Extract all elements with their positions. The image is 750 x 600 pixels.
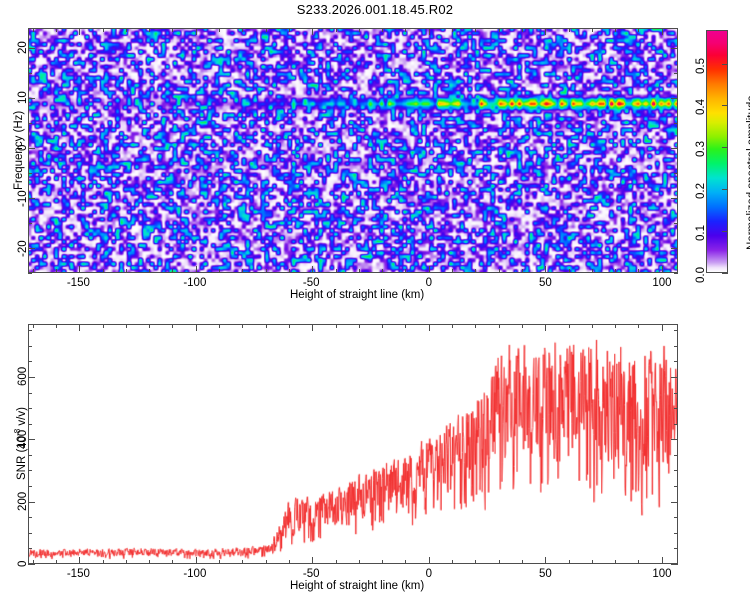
axis-tick: [219, 560, 220, 564]
axis-tick: [289, 28, 290, 32]
axis-tick: [126, 28, 127, 32]
axis-tick-label: -10: [17, 191, 29, 208]
colorbar-tick-label: 0.1: [695, 225, 707, 241]
axis-tick: [522, 324, 523, 328]
axis-tick: [499, 560, 500, 564]
axis-tick: [615, 28, 616, 32]
axis-tick: [452, 324, 453, 328]
axis-tick: [475, 269, 476, 273]
axis-tick: [405, 560, 406, 564]
axis-tick: [28, 223, 32, 224]
axis-tick: [662, 28, 663, 35]
axis-tick: [28, 248, 35, 249]
axis-tick-label: 200: [17, 492, 29, 511]
colorbar-tick-label: 0.3: [695, 141, 707, 157]
axis-tick-label: 100: [652, 568, 671, 580]
axis-tick: [242, 28, 243, 32]
axis-tick: [28, 73, 32, 74]
axis-tick: [242, 324, 243, 328]
axis-tick: [671, 148, 678, 149]
axis-tick: [452, 269, 453, 273]
axis-tick: [28, 148, 35, 149]
axis-tick: [674, 346, 678, 347]
axis-tick: [312, 557, 313, 564]
axis-tick: [28, 346, 32, 347]
axis-tick: [674, 330, 678, 331]
axis-tick: [382, 28, 383, 32]
snr-panel: [28, 324, 678, 564]
snr-y-axis-label: SNR (10-8 v/v): [13, 407, 28, 480]
axis-tick: [28, 455, 32, 456]
axis-tick: [569, 269, 570, 273]
axis-tick: [662, 266, 663, 273]
axis-tick: [638, 324, 639, 328]
axis-tick: [126, 560, 127, 564]
axis-tick: [674, 486, 678, 487]
axis-tick: [662, 557, 663, 564]
axis-tick: [671, 48, 678, 49]
axis-tick: [172, 560, 173, 564]
axis-tick-label: -20: [17, 241, 29, 258]
axis-tick: [28, 48, 35, 49]
axis-tick: [149, 28, 150, 32]
axis-tick: [674, 424, 678, 425]
axis-tick: [674, 517, 678, 518]
axis-tick: [545, 324, 546, 331]
colorbar-tick: [722, 147, 728, 148]
axis-tick: [33, 324, 34, 328]
colorbar-tick-label: 0.2: [695, 183, 707, 199]
colorbar-gradient: [707, 31, 727, 272]
axis-tick: [522, 560, 523, 564]
axis-tick: [545, 28, 546, 35]
axis-tick: [336, 269, 337, 273]
axis-tick: [522, 28, 523, 32]
axis-tick: [674, 408, 678, 409]
axis-tick: [452, 560, 453, 564]
axis-tick: [382, 560, 383, 564]
axis-tick: [475, 560, 476, 564]
axis-tick: [671, 564, 678, 565]
axis-tick: [103, 269, 104, 273]
axis-tick-label: -150: [67, 568, 90, 580]
axis-tick: [405, 324, 406, 328]
axis-tick: [592, 269, 593, 273]
axis-tick: [28, 408, 32, 409]
snr-trace: [29, 325, 677, 563]
axis-tick: [126, 269, 127, 273]
axis-tick-label: 10: [17, 91, 29, 104]
axis-tick: [28, 377, 35, 378]
axis-tick: [56, 269, 57, 273]
axis-tick: [475, 28, 476, 32]
axis-tick: [126, 324, 127, 328]
axis-tick: [28, 393, 32, 394]
axis-tick: [615, 324, 616, 328]
axis-tick: [219, 269, 220, 273]
axis-tick: [103, 28, 104, 32]
colorbar-tick: [722, 189, 728, 190]
axis-tick: [674, 73, 678, 74]
axis-tick: [674, 455, 678, 456]
axis-tick-label: -50: [303, 568, 320, 580]
axis-tick: [266, 324, 267, 328]
axis-tick: [149, 269, 150, 273]
axis-tick: [336, 560, 337, 564]
axis-tick: [219, 28, 220, 32]
axis-tick: [405, 269, 406, 273]
axis-tick: [452, 28, 453, 32]
colorbar-tick-label: 0.0: [695, 267, 707, 283]
axis-tick: [615, 560, 616, 564]
snr-y-axis-label-unit: v/v): [16, 407, 28, 429]
colorbar: [706, 30, 728, 273]
axis-tick: [674, 173, 678, 174]
axis-tick: [336, 28, 337, 32]
axis-tick: [266, 560, 267, 564]
axis-tick-label: 0: [17, 561, 29, 567]
axis-tick: [56, 324, 57, 328]
axis-tick: [289, 560, 290, 564]
spectrogram-y-axis-label: Frequency (Hz): [13, 111, 25, 190]
figure-root: S233.2026.001.18.45.R02 -150-100-5005010…: [0, 0, 750, 600]
axis-tick: [28, 98, 35, 99]
spectrogram-panel: [28, 28, 678, 273]
axis-tick: [28, 439, 35, 440]
axis-tick: [28, 173, 32, 174]
axis-tick-label: 20: [17, 41, 29, 54]
axis-tick: [674, 548, 678, 549]
axis-tick: [674, 470, 678, 471]
colorbar-label: Normalized spectral amplitude: [746, 95, 750, 250]
axis-tick: [103, 560, 104, 564]
axis-tick: [172, 28, 173, 32]
axis-tick: [56, 560, 57, 564]
axis-tick: [79, 324, 80, 331]
axis-tick: [172, 324, 173, 328]
axis-tick: [28, 533, 32, 534]
axis-tick: [638, 28, 639, 32]
axis-tick: [336, 324, 337, 328]
axis-tick: [28, 424, 32, 425]
axis-tick-label: 0: [426, 568, 432, 580]
colorbar-tick-label: 0.4: [695, 99, 707, 115]
axis-tick: [33, 269, 34, 273]
colorbar-tick-label: 0.5: [695, 58, 707, 74]
axis-tick: [499, 324, 500, 328]
axis-tick: [429, 266, 430, 273]
axis-tick: [219, 324, 220, 328]
axis-tick: [359, 560, 360, 564]
axis-tick: [674, 533, 678, 534]
axis-tick: [172, 269, 173, 273]
axis-tick-label: 600: [17, 367, 29, 386]
axis-tick-label: -100: [183, 568, 206, 580]
axis-tick: [592, 324, 593, 328]
axis-tick: [674, 361, 678, 362]
axis-tick: [28, 470, 32, 471]
axis-tick: [592, 560, 593, 564]
axis-tick: [671, 377, 678, 378]
spectrogram-image: [29, 29, 677, 272]
axis-tick: [242, 560, 243, 564]
axis-tick: [28, 361, 32, 362]
axis-tick: [28, 517, 32, 518]
axis-tick: [475, 324, 476, 328]
axis-tick: [289, 269, 290, 273]
colorbar-tick: [722, 273, 728, 274]
axis-tick: [671, 502, 678, 503]
axis-tick: [674, 273, 678, 274]
axis-tick: [28, 123, 32, 124]
axis-tick: [242, 269, 243, 273]
axis-tick: [382, 324, 383, 328]
axis-tick: [429, 557, 430, 564]
colorbar-tick: [722, 64, 728, 65]
axis-tick: [79, 28, 80, 35]
axis-tick: [312, 28, 313, 35]
snr-x-axis-label: Height of straight line (km): [290, 580, 424, 592]
axis-tick-label: 50: [539, 568, 552, 580]
axis-tick: [79, 266, 80, 273]
axis-tick: [662, 324, 663, 331]
axis-tick: [674, 123, 678, 124]
axis-tick-label: 0: [426, 277, 432, 289]
axis-tick: [289, 324, 290, 328]
axis-tick: [79, 557, 80, 564]
axis-tick: [671, 198, 678, 199]
axis-tick: [592, 28, 593, 32]
axis-tick: [671, 439, 678, 440]
axis-tick: [28, 198, 35, 199]
colorbar-tick: [722, 105, 728, 106]
axis-tick-label: -150: [67, 277, 90, 289]
axis-tick: [196, 557, 197, 564]
axis-tick: [522, 269, 523, 273]
snr-y-axis-label-base: SNR (10: [16, 436, 28, 480]
axis-tick: [615, 269, 616, 273]
axis-tick: [569, 28, 570, 32]
axis-tick: [569, 560, 570, 564]
axis-tick: [149, 560, 150, 564]
axis-tick: [674, 393, 678, 394]
spectrogram-x-axis-label: Height of straight line (km): [290, 289, 424, 301]
axis-tick: [359, 269, 360, 273]
axis-tick: [28, 564, 35, 565]
axis-tick: [359, 324, 360, 328]
axis-tick: [499, 28, 500, 32]
axis-tick: [28, 502, 35, 503]
axis-tick: [28, 330, 32, 331]
axis-tick-label: -100: [183, 277, 206, 289]
axis-tick: [671, 98, 678, 99]
axis-tick: [103, 324, 104, 328]
axis-tick: [28, 486, 32, 487]
axis-tick: [266, 28, 267, 32]
snr-y-axis-label-exponent: -8: [13, 429, 22, 436]
axis-tick-label: 100: [652, 277, 671, 289]
axis-tick: [33, 28, 34, 32]
colorbar-tick: [722, 231, 728, 232]
axis-tick-label: 50: [539, 277, 552, 289]
axis-tick: [196, 324, 197, 331]
axis-tick: [28, 548, 32, 549]
axis-tick: [638, 560, 639, 564]
axis-tick: [671, 248, 678, 249]
axis-tick: [405, 28, 406, 32]
axis-tick: [674, 223, 678, 224]
axis-tick: [196, 266, 197, 273]
axis-tick: [28, 273, 32, 274]
axis-tick: [266, 269, 267, 273]
axis-tick-label: -50: [303, 277, 320, 289]
axis-tick: [149, 324, 150, 328]
axis-tick: [56, 28, 57, 32]
figure-title: S233.2026.001.18.45.R02: [0, 2, 750, 17]
axis-tick: [545, 266, 546, 273]
axis-tick: [312, 324, 313, 331]
axis-tick: [429, 324, 430, 331]
axis-tick: [359, 28, 360, 32]
axis-tick: [499, 269, 500, 273]
axis-tick: [382, 269, 383, 273]
axis-tick: [638, 269, 639, 273]
axis-tick: [429, 28, 430, 35]
axis-tick: [569, 324, 570, 328]
axis-tick: [196, 28, 197, 35]
axis-tick: [545, 557, 546, 564]
axis-tick: [312, 266, 313, 273]
